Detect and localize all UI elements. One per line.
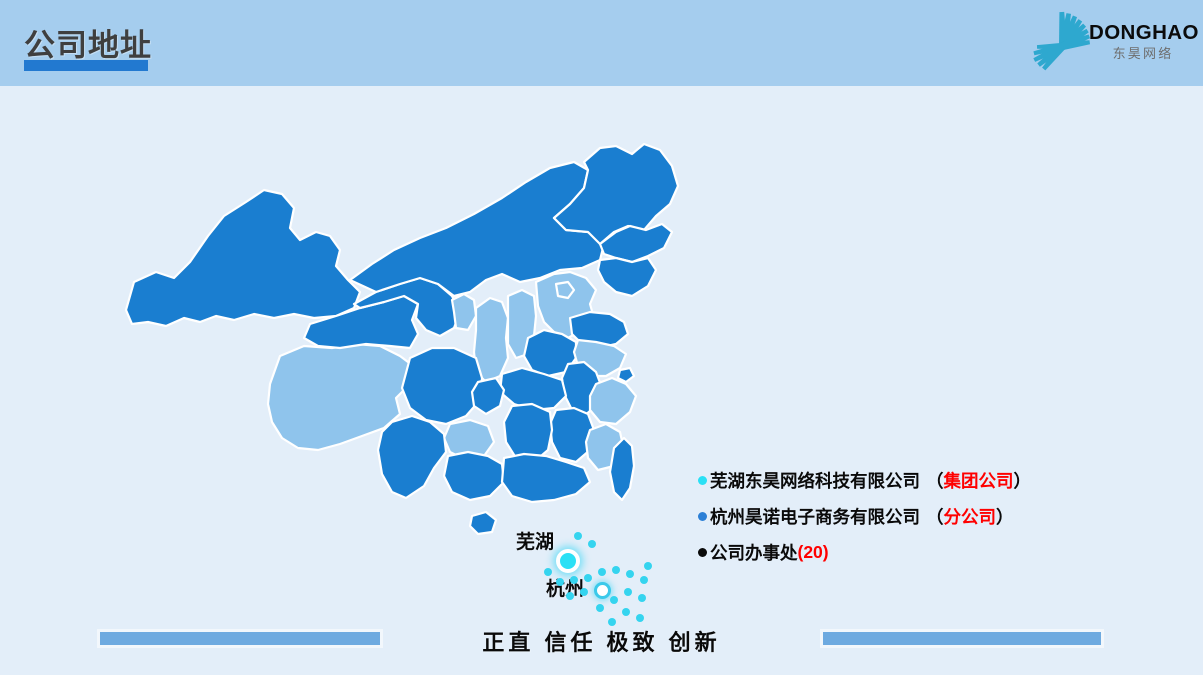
office-dot[interactable]	[612, 566, 620, 574]
company-logo: DONGHAO 东昊网络	[1017, 4, 1197, 82]
legend-bullet-icon	[698, 512, 707, 521]
page-title: 公司地址	[24, 20, 152, 65]
legend-bullet-icon	[698, 548, 707, 557]
legend: 芜湖东昊网络科技有限公司 （ 集团公司 ） 杭州昊诺电子商务有限公司 （ 分公司…	[698, 462, 1098, 570]
office-dot[interactable]	[580, 588, 588, 596]
office-dot[interactable]	[566, 592, 574, 600]
footer-decor-bar-right	[823, 632, 1101, 645]
office-dot[interactable]	[636, 614, 644, 622]
legend-label: 芜湖东昊网络科技有限公司	[710, 468, 920, 493]
office-dot[interactable]	[584, 574, 592, 582]
office-dot[interactable]	[574, 532, 582, 540]
office-dot[interactable]	[610, 596, 618, 604]
province-ningxia	[452, 294, 476, 330]
title-underline-accent	[24, 60, 148, 71]
legend-paren-close: ）	[1014, 468, 1032, 493]
hangzhou-branch-marker[interactable]	[594, 582, 611, 599]
legend-item-offices: 公司办事处 (20)	[698, 534, 1098, 570]
city-label-wuhu: 芜湖	[516, 527, 554, 554]
legend-item-branch-company: 杭州昊诺电子商务有限公司 （ 分公司 ）	[698, 498, 1098, 534]
office-dot[interactable]	[626, 570, 634, 578]
legend-label: 杭州昊诺电子商务有限公司	[710, 504, 920, 529]
logo-text: DONGHAO 东昊网络	[1089, 22, 1197, 63]
legend-paren-open: （	[926, 468, 944, 493]
office-dot[interactable]	[644, 562, 652, 570]
legend-tag: 分公司	[944, 504, 997, 529]
office-dot[interactable]	[598, 568, 606, 576]
office-dot[interactable]	[638, 594, 646, 602]
province-yunnan	[378, 416, 446, 498]
province-shanghai	[618, 368, 634, 382]
office-dot[interactable]	[556, 578, 564, 586]
wuhu-headquarters-marker[interactable]	[556, 549, 580, 573]
slide-canvas: 公司地址	[0, 0, 1203, 675]
city-label-hangzhou: 杭州	[546, 574, 584, 601]
office-dot[interactable]	[624, 588, 632, 596]
office-dot[interactable]	[622, 608, 630, 616]
office-dot[interactable]	[588, 540, 596, 548]
legend-label: 公司办事处	[710, 540, 798, 565]
province-taiwan	[610, 438, 634, 500]
legend-paren-close: ）	[996, 504, 1014, 529]
legend-tag: 集团公司	[944, 468, 1014, 493]
province-chongqing	[472, 378, 504, 414]
china-map: 芜湖 杭州	[104, 132, 704, 602]
fan-wing-logo-icon	[1023, 6, 1095, 80]
province-zhejiang	[590, 378, 636, 424]
office-dot[interactable]	[640, 576, 648, 584]
logo-name: DONGHAO	[1089, 22, 1197, 44]
legend-office-count: (20)	[798, 542, 829, 563]
legend-paren-open: （	[926, 504, 944, 529]
province-sichuan	[402, 348, 482, 424]
province-liaoning	[598, 258, 656, 296]
province-guangxi	[444, 452, 504, 500]
office-dot[interactable]	[544, 568, 552, 576]
province-hainan	[470, 512, 496, 534]
office-dot[interactable]	[596, 604, 604, 612]
china-map-svg	[104, 132, 704, 602]
legend-bullet-icon	[698, 476, 707, 485]
office-dot[interactable]	[570, 576, 578, 584]
legend-item-group-company: 芜湖东昊网络科技有限公司 （ 集团公司 ）	[698, 462, 1098, 498]
logo-subtitle: 东昊网络	[1089, 44, 1197, 64]
province-xinjiang	[126, 190, 360, 326]
